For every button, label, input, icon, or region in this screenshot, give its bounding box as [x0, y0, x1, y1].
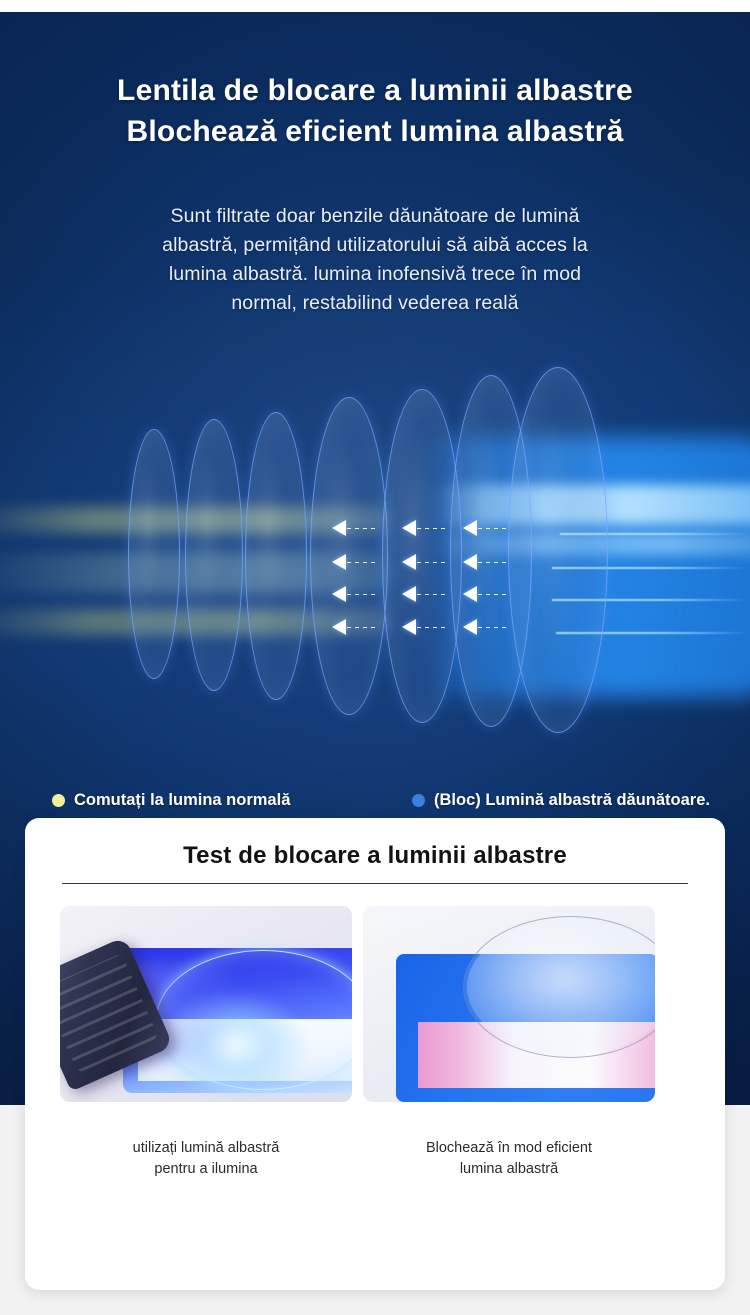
lens-ellipse-3 — [245, 412, 307, 700]
card-title: Test de blocare a luminii albastre — [25, 842, 725, 870]
uv-torch-on-lens-photo — [60, 906, 352, 1102]
caption-left-line-2: pentru a ilumina — [60, 1159, 352, 1180]
flow-arrow-tail — [347, 562, 377, 563]
card-divider — [62, 883, 688, 884]
legend-dot-blue-icon — [412, 794, 425, 807]
hero-heading-line-2: Blochează eficient lumina albastră — [0, 111, 750, 152]
caption-right-line-2: lumina albastră — [363, 1159, 655, 1180]
flow-arrow-tail — [347, 594, 377, 595]
hero-paragraph-line-4: normal, restabilind vederea reală — [95, 289, 655, 318]
hero-heading-block: Lentila de blocare a luminii albastre Bl… — [0, 70, 750, 152]
caption-left-line-1: utilizați lumină albastră — [60, 1138, 352, 1159]
flow-arrow-icon — [463, 619, 477, 635]
legend-item-blue-light: (Bloc) Lumină albastră dăunătoare. — [412, 791, 710, 810]
flow-arrow-icon — [332, 520, 346, 536]
lens-ellipse-7 — [508, 367, 608, 733]
legend-label-normal-light: Comutați la lumina normală — [74, 791, 290, 810]
flow-arrow-icon — [463, 586, 477, 602]
legend-item-normal-light: Comutați la lumina normală — [52, 791, 290, 810]
panel-captions: utilizați lumină albastră pentru a ilumi… — [25, 1138, 725, 1208]
hero-heading-line-1: Lentila de blocare a luminii albastre — [0, 70, 750, 111]
legend-dot-yellow-icon — [52, 794, 65, 807]
lens-blocking-blue-light-photo — [363, 906, 655, 1102]
hero-paragraph-line-3: lumina albastră. lumina inofensivă trece… — [95, 260, 655, 289]
caption-left: utilizați lumină albastră pentru a ilumi… — [60, 1138, 352, 1180]
test-photo-panel-left — [60, 906, 352, 1102]
top-white-strip — [0, 0, 750, 12]
hero-paragraph: Sunt filtrate doar benzile dăunătoare de… — [95, 202, 655, 318]
lens-ellipse-4 — [310, 397, 388, 715]
flow-arrow-tail — [417, 594, 447, 595]
flow-arrow-icon — [402, 619, 416, 635]
flow-arrow-icon — [463, 520, 477, 536]
flow-arrow-tail — [417, 627, 447, 628]
product-detail-page: Lentila de blocare a luminii albastre Bl… — [0, 0, 750, 1315]
test-photo-panel-right — [363, 906, 655, 1102]
flow-arrow-icon — [463, 554, 477, 570]
lens-ellipse-1 — [128, 429, 180, 679]
flow-arrow-icon — [402, 586, 416, 602]
caption-right: Blochează în mod eficient lumina albastr… — [363, 1138, 655, 1180]
flow-arrow-icon — [332, 554, 346, 570]
hero-paragraph-line-1: Sunt filtrate doar benzile dăunătoare de… — [95, 202, 655, 231]
flow-arrow-icon — [402, 520, 416, 536]
blue-light-test-card: Test de blocare a luminii albastre — [25, 818, 725, 1290]
flow-arrow-tail — [347, 627, 377, 628]
flow-arrow-tail — [417, 562, 447, 563]
flow-arrow-tail — [478, 562, 508, 563]
flow-arrow-tail — [347, 528, 377, 529]
flow-arrow-tail — [478, 627, 508, 628]
test-photo-panels — [25, 906, 725, 1106]
lens-array-diagram — [0, 357, 750, 767]
flow-arrow-icon — [402, 554, 416, 570]
flow-arrow-icon — [332, 619, 346, 635]
flow-arrow-tail — [478, 528, 508, 529]
flow-arrow-icon — [332, 586, 346, 602]
flow-arrow-tail — [417, 528, 447, 529]
lens-ellipse-2 — [185, 419, 243, 691]
caption-right-line-1: Blochează în mod eficient — [363, 1138, 655, 1159]
legend-label-blue-light: (Bloc) Lumină albastră dăunătoare. — [434, 791, 710, 810]
flow-arrow-tail — [478, 594, 508, 595]
diagram-legend: Comutați la lumina normală (Bloc) Lumină… — [0, 787, 750, 817]
hero-paragraph-line-2: albastră, permițând utilizatorului să ai… — [95, 231, 655, 260]
